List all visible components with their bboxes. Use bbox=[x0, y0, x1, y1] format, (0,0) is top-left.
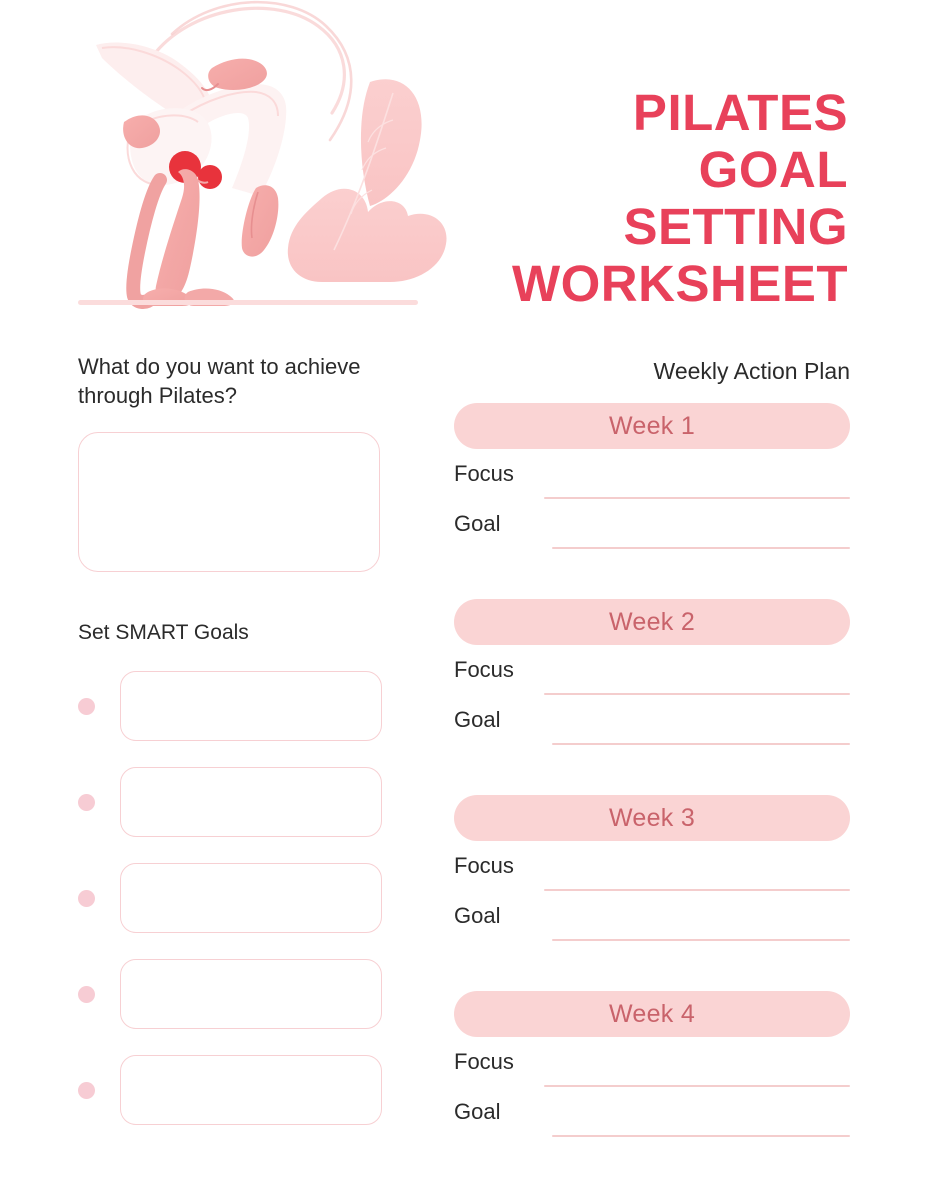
week-label: Week 1 bbox=[609, 412, 695, 441]
question-answer-box[interactable] bbox=[78, 432, 380, 572]
smart-goal-input-4[interactable] bbox=[120, 959, 382, 1029]
left-column: What do you want to achieve through Pila… bbox=[78, 352, 384, 1125]
week-group-4: Week 4 Focus Goal bbox=[454, 991, 850, 1149]
week-1-focus-row: Focus bbox=[454, 461, 850, 511]
focus-label: Focus bbox=[454, 657, 544, 683]
right-column: Weekly Action Plan Week 1 Focus Goal Wee… bbox=[454, 356, 850, 1149]
week-3-focus-row: Focus bbox=[454, 853, 850, 903]
week-3-focus-input[interactable] bbox=[544, 889, 850, 891]
worksheet-title: PILATES GOAL SETTING WORKSHEET bbox=[328, 84, 848, 312]
bullet-icon bbox=[78, 698, 95, 715]
week-group-1: Week 1 Focus Goal bbox=[454, 403, 850, 561]
smart-goal-input-1[interactable] bbox=[120, 671, 382, 741]
smart-goals-list bbox=[78, 671, 384, 1125]
smart-goal-row bbox=[78, 767, 384, 837]
week-pill-4: Week 4 bbox=[454, 991, 850, 1037]
week-group-2: Week 2 Focus Goal bbox=[454, 599, 850, 757]
title-line-3: SETTING bbox=[328, 198, 848, 255]
focus-label: Focus bbox=[454, 853, 544, 879]
week-2-focus-row: Focus bbox=[454, 657, 850, 707]
smart-goal-input-2[interactable] bbox=[120, 767, 382, 837]
week-pill-1: Week 1 bbox=[454, 403, 850, 449]
week-pill-3: Week 3 bbox=[454, 795, 850, 841]
bullet-icon bbox=[78, 1082, 95, 1099]
week-1-focus-input[interactable] bbox=[544, 497, 850, 499]
week-4-goal-row: Goal bbox=[454, 1099, 850, 1149]
week-label: Week 3 bbox=[609, 804, 695, 833]
week-2-goal-input[interactable] bbox=[552, 743, 850, 745]
week-1-goal-row: Goal bbox=[454, 511, 850, 561]
week-2-focus-input[interactable] bbox=[544, 693, 850, 695]
weekly-action-plan-heading: Weekly Action Plan bbox=[454, 356, 850, 386]
smart-goal-input-3[interactable] bbox=[120, 863, 382, 933]
week-4-focus-input[interactable] bbox=[544, 1085, 850, 1087]
title-line-4: WORKSHEET bbox=[328, 255, 848, 312]
smart-goal-row bbox=[78, 1055, 384, 1125]
goal-label: Goal bbox=[454, 707, 544, 733]
title-line-1: PILATES bbox=[328, 84, 848, 141]
week-4-focus-row: Focus bbox=[454, 1049, 850, 1099]
week-2-goal-row: Goal bbox=[454, 707, 850, 757]
goal-label: Goal bbox=[454, 1099, 544, 1125]
week-1-goal-input[interactable] bbox=[552, 547, 850, 549]
goal-label: Goal bbox=[454, 903, 544, 929]
title-line-2: GOAL bbox=[328, 141, 848, 198]
smart-goal-input-5[interactable] bbox=[120, 1055, 382, 1125]
week-pill-2: Week 2 bbox=[454, 599, 850, 645]
week-3-goal-row: Goal bbox=[454, 903, 850, 953]
smart-goal-row bbox=[78, 959, 384, 1029]
week-label: Week 4 bbox=[609, 1000, 695, 1029]
smart-goals-heading: Set SMART Goals bbox=[78, 619, 384, 647]
smart-goal-row bbox=[78, 863, 384, 933]
bullet-icon bbox=[78, 890, 95, 907]
week-3-goal-input[interactable] bbox=[552, 939, 850, 941]
bullet-icon bbox=[78, 794, 95, 811]
question-heading: What do you want to achieve through Pila… bbox=[78, 352, 384, 410]
week-group-3: Week 3 Focus Goal bbox=[454, 795, 850, 953]
focus-label: Focus bbox=[454, 461, 544, 487]
week-label: Week 2 bbox=[609, 608, 695, 637]
week-4-goal-input[interactable] bbox=[552, 1135, 850, 1137]
focus-label: Focus bbox=[454, 1049, 544, 1075]
goal-label: Goal bbox=[454, 511, 544, 537]
smart-goal-row bbox=[78, 671, 384, 741]
bullet-icon bbox=[78, 986, 95, 1003]
